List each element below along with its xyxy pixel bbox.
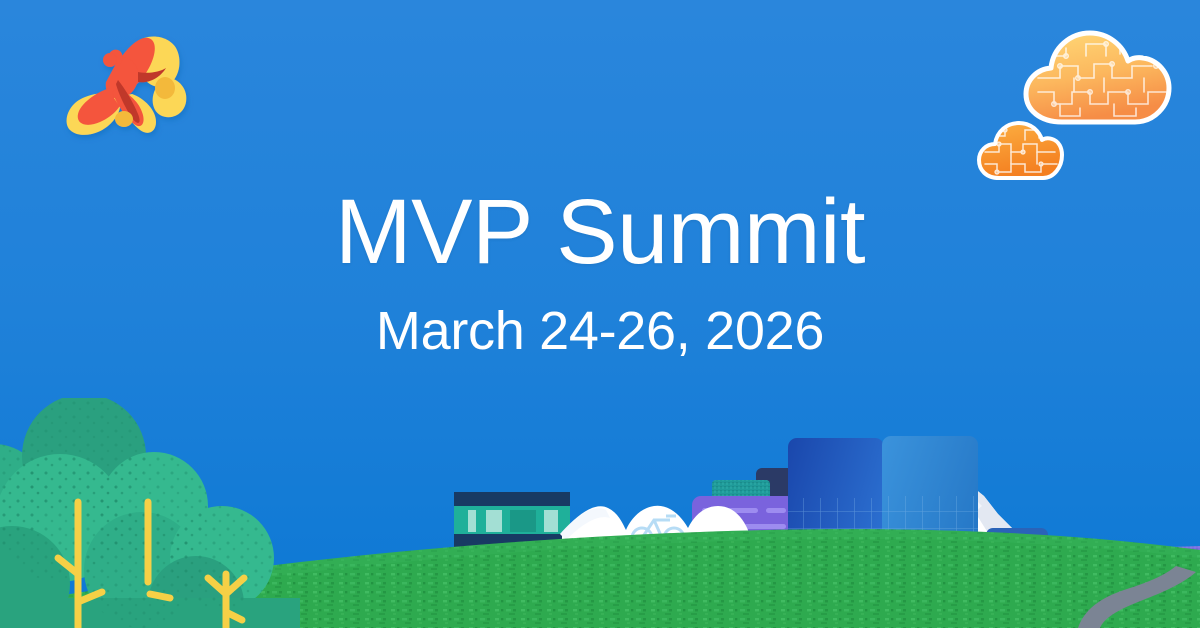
tree-grove xyxy=(0,398,300,628)
event-dates: March 24-26, 2026 xyxy=(0,304,1200,358)
event-text-block: MVP Summit March 24-26, 2026 xyxy=(0,186,1200,358)
circuit-cloud-large-icon xyxy=(1020,26,1176,130)
butterfly-icon xyxy=(52,26,202,146)
page-title: MVP Summit xyxy=(0,186,1200,278)
mvp-summit-banner: MVP Summit March 24-26, 2026 xyxy=(0,0,1200,628)
circuit-cloud-small-icon xyxy=(975,118,1065,184)
